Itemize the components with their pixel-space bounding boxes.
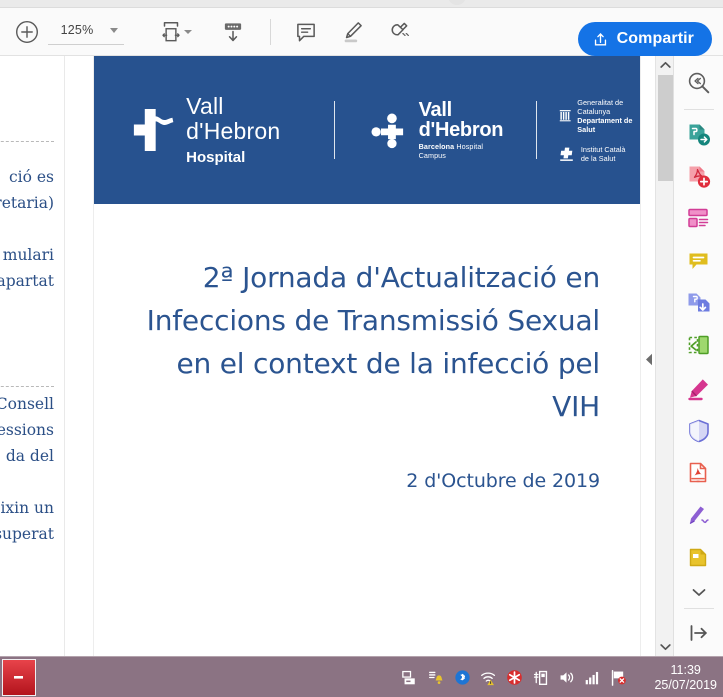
left-page-line: mulari [0, 242, 56, 268]
combine-files-icon [686, 291, 712, 317]
rail-item-more-tools[interactable] [679, 581, 719, 602]
pdf-toolbar: 125% [0, 8, 723, 56]
zoom-in-button[interactable] [12, 15, 42, 49]
create-pdf-icon [686, 164, 712, 190]
document-title-line: Infeccions de Transmissió Sexual [134, 299, 600, 342]
rail-item-edit-pdf[interactable] [679, 200, 719, 238]
add-comment-button[interactable] [290, 15, 322, 49]
search-icon [686, 70, 712, 96]
zoom-in-icon [14, 19, 40, 45]
application-window: 125% [0, 0, 723, 697]
scroll-up-button[interactable] [656, 56, 673, 74]
left-page-line: Consell [0, 391, 56, 417]
document-title-line: 2ª Jornada d'Actualització en [134, 256, 600, 299]
language-flag-icon[interactable] [610, 669, 627, 686]
rail-item-fill-and-sign[interactable] [679, 497, 719, 535]
system-tray [402, 657, 627, 697]
tools-rail [673, 56, 723, 656]
page-header-banner: Vall d'Hebron Hospital Vall d' [94, 56, 640, 204]
page-scroll-icon [220, 19, 246, 45]
comment-bubble-icon [293, 19, 319, 45]
share-button-label: Compartir [617, 30, 694, 48]
rail-item-combine-files[interactable] [679, 285, 719, 323]
highlight-button[interactable] [336, 15, 368, 49]
taskbar-app-tile-acrobat[interactable] [2, 659, 36, 696]
freehand-draw-icon [385, 19, 411, 45]
ics-logo: Institut Català de la Salut [559, 145, 640, 163]
action-center-icon[interactable] [428, 669, 445, 686]
highlighter-pen-icon [339, 19, 365, 45]
edit-pdf-icon [686, 206, 712, 232]
ics-cross-icon [559, 146, 575, 162]
vertical-scrollbar-thumb[interactable] [658, 75, 673, 181]
left-page-line: retaria) [0, 190, 56, 216]
chevron-down-icon [692, 588, 706, 597]
share-button[interactable]: Compartir [578, 22, 712, 56]
document-title: 2ª Jornada d'Actualització en Infeccions… [134, 256, 600, 428]
rail-item-protect[interactable] [679, 412, 719, 450]
compress-pdf-icon [686, 461, 712, 487]
document-page: Vall d'Hebron Hospital Vall d' [94, 56, 640, 656]
window-handle-nub [448, 0, 466, 5]
toolbar-separator [270, 19, 271, 45]
generalitat-line-2: Departament de Salut [577, 116, 640, 134]
paragraph-gap [0, 469, 56, 495]
scroll-down-button[interactable] [656, 638, 673, 656]
signature-icon [686, 503, 712, 529]
export-pdf-icon [686, 122, 712, 148]
rail-item-redact[interactable] [679, 370, 719, 408]
hospital-name: Vall d'Hebron [186, 94, 294, 144]
hospital-cross-wave-icon [130, 99, 175, 161]
zoom-control-group: 125% [48, 19, 124, 45]
clock-date: 25/07/2019 [654, 678, 717, 693]
barcelona-campus-logo: Vall d'Hebron Barcelona Hospital Campus [371, 101, 507, 160]
left-page-line: superat [0, 521, 56, 547]
previous-page-partial: ció es retaria) mulari apartat Consell e… [0, 56, 65, 656]
left-page-line: da del [0, 443, 56, 469]
clock-time: 11:39 [671, 663, 701, 678]
acrobat-icon [12, 670, 26, 684]
vall-hebron-hospital-logo: Vall d'Hebron Hospital [130, 94, 294, 166]
taskbar-clock[interactable]: 11:39 25/07/2019 [654, 657, 717, 697]
fit-page-button[interactable] [156, 15, 186, 49]
chevron-down-icon [660, 643, 671, 651]
rail-item-export-pdf[interactable] [679, 115, 719, 153]
rail-item-collapse[interactable] [679, 614, 719, 652]
chevron-up-icon [660, 61, 671, 69]
zoom-level-field[interactable]: 125% [48, 19, 124, 45]
rail-separator [684, 608, 714, 609]
left-page-line: ixin un [0, 495, 56, 521]
campus-tagline: Barcelona Hospital Campus [419, 142, 506, 160]
bluetooth-icon[interactable] [454, 669, 471, 686]
rail-item-compress-pdf[interactable] [679, 454, 719, 492]
document-title-line: en el context de la infecció pel [134, 342, 600, 385]
comment-icon [686, 249, 712, 275]
signal-bars-icon[interactable] [584, 669, 601, 686]
collapse-right-panel-button[interactable] [644, 348, 654, 370]
triangle-left-icon [645, 353, 653, 366]
ics-line-1: Institut Català [581, 145, 626, 154]
shield-icon [686, 418, 712, 444]
redact-marker-icon [686, 376, 712, 402]
left-page-line: essions [0, 417, 56, 443]
chevron-down-icon[interactable] [110, 28, 118, 33]
scroll-mode-button[interactable] [218, 15, 248, 49]
rail-item-search[interactable] [679, 64, 719, 102]
rail-separator [684, 109, 714, 110]
document-title-line: VIH [134, 385, 600, 428]
pdf-viewer: ció es retaria) mulari apartat Consell e… [0, 56, 673, 656]
campus-dots-cross-icon [371, 110, 410, 150]
zoom-level-value: 125% [56, 23, 98, 37]
rail-item-create-pdf[interactable] [679, 158, 719, 196]
campus-tagline-bold: Barcelona [419, 142, 455, 151]
share-upload-icon [592, 31, 609, 48]
banner-divider [334, 101, 335, 159]
campus-word-2: d'Hebron [419, 120, 506, 140]
rail-item-prepare-form[interactable] [679, 539, 719, 577]
rail-item-organize-pages[interactable] [679, 327, 719, 365]
organize-pages-icon [686, 333, 712, 359]
windows-taskbar: 11:39 25/07/2019 [0, 656, 723, 697]
left-page-line: ció es [0, 164, 56, 190]
collapse-panel-icon [688, 624, 710, 642]
left-page-line: apartat [0, 268, 56, 294]
vertical-scrollbar[interactable] [655, 56, 673, 656]
banner-divider [536, 101, 537, 159]
generalitat-logo: Generalitat de Catalunya Departament de … [559, 98, 640, 134]
generalitat-line-1: Generalitat de Catalunya [577, 98, 640, 116]
draw-button[interactable] [382, 15, 414, 49]
usb-device-icon[interactable] [532, 669, 549, 686]
prepare-form-icon [686, 545, 712, 571]
document-date: 2 d'Octubre de 2019 [134, 470, 600, 492]
rail-item-comment[interactable] [679, 242, 719, 280]
paragraph-gap [0, 216, 56, 242]
generalitat-bars-icon [559, 107, 571, 124]
fit-page-dropdown-chevron-icon[interactable] [184, 30, 192, 34]
ics-line-2: de la Salut [581, 154, 626, 163]
window-top-strip [0, 0, 723, 8]
volume-icon[interactable] [558, 669, 575, 686]
hospital-subtitle: Hospital [186, 149, 294, 166]
antivirus-icon[interactable] [506, 669, 523, 686]
document-page-body: 2ª Jornada d'Actualització en Infeccions… [94, 204, 640, 656]
network-connections-icon[interactable] [402, 669, 419, 686]
campus-word-1: Vall [419, 101, 506, 120]
wifi-warning-icon[interactable] [480, 669, 497, 686]
generalitat-ics-logos: Generalitat de Catalunya Departament de … [559, 98, 640, 163]
fit-page-icon [158, 19, 184, 45]
